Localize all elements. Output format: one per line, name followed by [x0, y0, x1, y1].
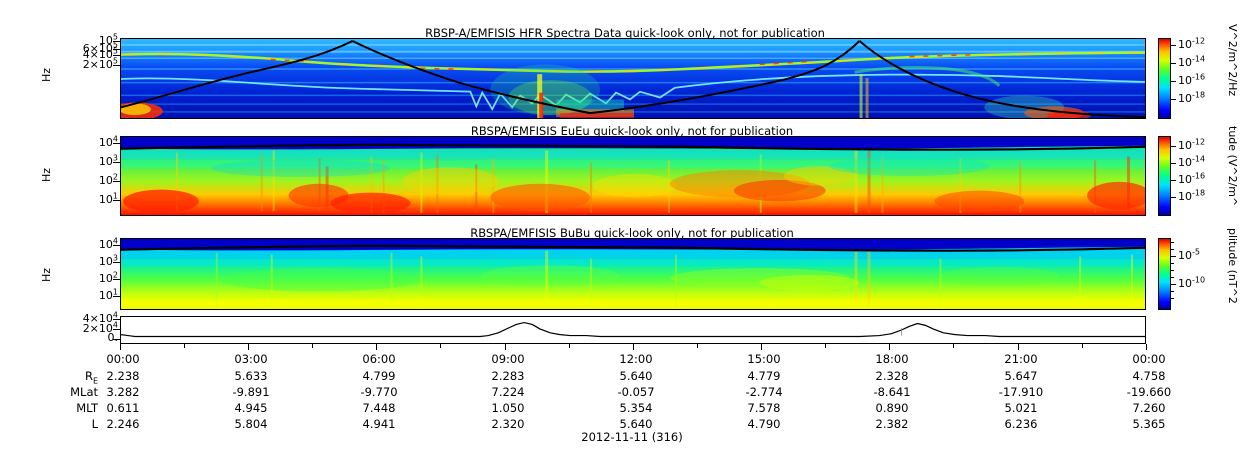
table-cell: -9.770 [360, 385, 397, 399]
table-cell: 5.647 [1005, 369, 1038, 383]
colorbar-title-bubu: plitude (nT^2 [1226, 228, 1239, 304]
spectrogram-hfr [121, 39, 1145, 118]
table-cell: 5.633 [235, 369, 268, 383]
ytickmark [113, 319, 120, 320]
table-cell: 3.282 [107, 385, 140, 399]
table-cell: -9.891 [232, 385, 269, 399]
table-cell: 6.236 [1005, 417, 1038, 431]
ytickmark [113, 162, 120, 163]
ytick-line-0: 0. [52, 333, 118, 343]
xtick-label: 21:00 [1004, 352, 1037, 366]
table-cell: 4.945 [235, 401, 268, 415]
line-trace [121, 317, 1145, 343]
ytickmark [113, 143, 120, 144]
table-cell: 2.283 [492, 369, 525, 383]
xtick-label: 03:00 [234, 352, 267, 366]
plot-area-line [120, 316, 1146, 344]
colorbar-tick-label: 10-5 [1178, 251, 1200, 261]
colorbar-tick-label: 10-16 [1178, 175, 1205, 185]
table-cell: 2.246 [107, 417, 140, 431]
table-cell: 4.758 [1133, 369, 1166, 383]
ytick-eueu-1e3: 103 [70, 157, 118, 167]
xtick-label: 15:00 [747, 352, 780, 366]
ylabel-eueu: Hz [40, 168, 53, 182]
table-cell: 7.578 [748, 401, 781, 415]
ylabel-bubu: Hz [40, 268, 53, 282]
ytickmark [113, 55, 120, 56]
table-cell: 7.260 [1133, 401, 1166, 415]
table-cell: 4.790 [748, 417, 781, 431]
xtick-label: 18:00 [875, 352, 908, 366]
table-cell: 0.890 [876, 401, 909, 415]
table-cell: 7.224 [492, 385, 525, 399]
emfisis-quicklook-figure: RBSP-A/EMFISIS HFR Spectra Data quick-lo… [0, 0, 1250, 449]
colorbar-tick-label: 10-12 [1178, 141, 1205, 151]
ytickmark [113, 49, 120, 50]
ytickmark [113, 262, 120, 263]
ytickmark [113, 181, 120, 182]
colorbar-bubu [1158, 238, 1171, 310]
table-cell: -8.641 [873, 385, 910, 399]
ytick-bubu-1e2: 102 [70, 274, 118, 284]
ytick-hfr-2e5: 2×105 [58, 60, 118, 70]
table-cell: 5.354 [620, 401, 653, 415]
table-cell: 5.640 [620, 417, 653, 431]
table-cell: 5.640 [620, 369, 653, 383]
ytickmark [113, 339, 120, 340]
colorbar-tick-label: 10-10 [1178, 279, 1205, 289]
ytick-bubu-1e1: 101 [70, 291, 118, 301]
ytickmark [113, 329, 120, 330]
table-cell: 5.021 [1005, 401, 1038, 415]
colorbar-tick-label: 10-12 [1178, 40, 1205, 50]
ytick-eueu-1e4: 104 [70, 138, 118, 148]
ytickmark [113, 65, 120, 66]
colorbar-tick-label: 10-16 [1178, 76, 1205, 86]
ytickmark [113, 200, 120, 201]
colorbar-eueu [1158, 136, 1171, 216]
ytick-eueu-1e2: 102 [70, 176, 118, 186]
colorbar-tick-label: 10-18 [1178, 94, 1205, 104]
table-cell: 2.328 [876, 369, 909, 383]
table-cell: -19.660 [1127, 385, 1171, 399]
ephemeris-row-label-l: L [40, 417, 98, 431]
ephemeris-row-label-re: RE [40, 369, 98, 383]
table-cell: 7.448 [363, 401, 396, 415]
plot-area-eueu [120, 136, 1146, 216]
table-cell: 4.799 [363, 369, 396, 383]
date-label: 2012-11-11 (316) [581, 430, 682, 444]
table-cell: 4.779 [748, 369, 781, 383]
spectrogram-eueu [121, 137, 1145, 215]
xtick-label: 12:00 [619, 352, 652, 366]
ytickmark [113, 279, 120, 280]
colorbar-tick-label: 10-18 [1178, 192, 1205, 202]
xtick-label: 00:00 [1132, 352, 1165, 366]
ylabel-hfr: Hz [40, 68, 53, 82]
plot-area-hfr [120, 38, 1146, 119]
ephemeris-row-label-mlat: MLat [40, 385, 98, 399]
table-cell: 2.238 [107, 369, 140, 383]
table-cell: -2.774 [745, 385, 782, 399]
table-cell: -0.057 [617, 385, 654, 399]
colorbar-tick-label: 10-14 [1178, 158, 1205, 168]
xtick-label: 09:00 [491, 352, 524, 366]
colorbar-tick-label: 10-14 [1178, 58, 1205, 68]
table-cell: 0.611 [107, 401, 140, 415]
table-cell: 2.320 [492, 417, 525, 431]
table-cell: 4.941 [363, 417, 396, 431]
table-cell: 2.382 [876, 417, 909, 431]
table-cell: 5.365 [1133, 417, 1166, 431]
table-cell: 1.050 [492, 401, 525, 415]
colorbar-title-hfr: V^2/m^2/Hz [1226, 24, 1239, 96]
ytick-bubu-1e4: 104 [70, 240, 118, 250]
xtick-label: 00:00 [106, 352, 139, 366]
colorbar-title-eueu: tude (V^2/m^ [1226, 126, 1239, 206]
plot-area-bubu [120, 238, 1146, 310]
ytickmark [113, 245, 120, 246]
ytick-eueu-1e1: 101 [70, 195, 118, 205]
table-cell: 5.804 [235, 417, 268, 431]
table-cell: -17.910 [999, 385, 1043, 399]
ytickmark [113, 296, 120, 297]
ytickmark [113, 41, 120, 42]
xtick-label: 06:00 [362, 352, 395, 366]
ytick-bubu-1e3: 103 [70, 257, 118, 267]
ephemeris-row-label-mlt: MLT [40, 401, 98, 415]
spectrogram-bubu [121, 239, 1145, 309]
colorbar-hfr [1158, 38, 1171, 119]
